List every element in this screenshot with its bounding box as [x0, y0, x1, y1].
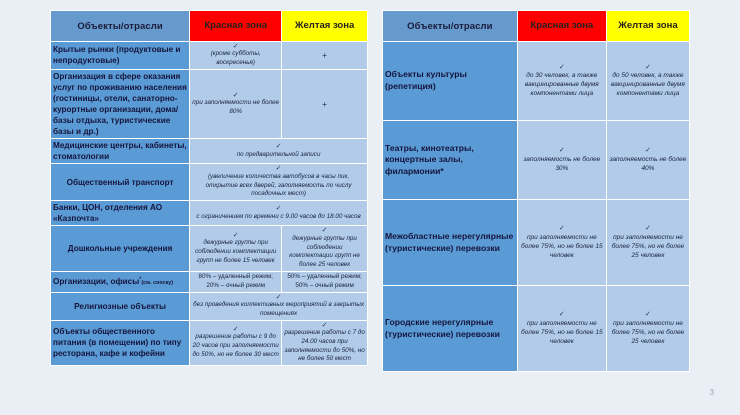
table-row: Банки, ЦОН, отделения АО «Казпочта» ✓ с … — [51, 201, 367, 225]
cell-text: до 30 человек, а также вакцинированные д… — [520, 71, 604, 98]
left-zone-table-wrapper: Объекты/отрасли Красная зона Желтая зона… — [50, 10, 368, 366]
row-label: Организация в сфере оказания услуг по пр… — [51, 70, 189, 138]
table-row: Религиозные объекты ✓ без проведения кол… — [51, 293, 367, 320]
right-zone-table: Объекты/отрасли Красная зона Желтая зона… — [382, 10, 690, 372]
cell-merged: ✓ (увеличение количества автобусов в час… — [190, 164, 367, 200]
check-icon: ✓ — [520, 147, 604, 154]
table-row: Межобластные нерегулярные (туристические… — [383, 200, 689, 285]
check-icon: ✓ — [192, 294, 365, 301]
table-row: Объекты общественного питания (в помещен… — [51, 321, 367, 366]
row-label-note: (см. сноску) — [141, 280, 173, 286]
cell-text: при заполняемости не более 75%, но не бо… — [609, 233, 687, 260]
plus-icon: + — [284, 50, 365, 61]
header-yellow-zone-left: Желтая зона — [282, 11, 367, 41]
header-yellow-zone-right: Желтая зона — [607, 11, 689, 41]
cell-text: 50% – удаленный режим; 50% – очный режим — [284, 273, 365, 291]
row-label: Крытые рынки (продуктовые и непродуктовы… — [51, 42, 189, 69]
cell-text: заполняемость не более 40% — [609, 155, 687, 173]
plus-icon: + — [284, 99, 365, 110]
table-row: Театры, кинотеатры, концертные залы, фил… — [383, 121, 689, 199]
cell-text: до 50 человек, а также вакцинированные д… — [609, 71, 687, 98]
cell-red: ✓ при заполняемости не более 75%, но не … — [518, 200, 606, 285]
cell-merged: ✓ без проведения коллективных мероприяти… — [190, 293, 367, 320]
cell-yellow: ✓ при заполняемости не более 75%, но не … — [607, 200, 689, 285]
cell-text: разрешение работы с 7 до 24.00 часов при… — [284, 329, 365, 364]
header-red-zone-right: Красная зона — [518, 11, 606, 41]
table-row: Общественный транспорт ✓ (увеличение кол… — [51, 164, 367, 200]
cell-text: заполняемость не более 30% — [520, 155, 604, 173]
check-icon: ✓ — [609, 225, 687, 232]
check-icon: ✓ — [284, 322, 365, 329]
cell-text: разрешение работы с 9 до 20 часов при за… — [192, 333, 279, 359]
row-label: Объекты культуры (репетиция) — [383, 42, 517, 120]
cell-text: дежурные группы при соблюдении комплекта… — [284, 235, 365, 270]
slide-canvas: Объекты/отрасли Красная зона Желтая зона… — [0, 0, 740, 415]
cell-yellow: ✓ при заполняемости не более 75%, но не … — [607, 286, 689, 371]
cell-yellow: ✓ до 50 человек, а также вакцинированные… — [607, 42, 689, 120]
cell-yellow: ✓ заполняемость не более 40% — [607, 121, 689, 199]
check-icon: ✓ — [192, 165, 365, 172]
row-label: Медицинские центры, кабинеты, стоматолог… — [51, 139, 189, 163]
check-icon: ✓ — [609, 311, 687, 318]
row-label: Объекты общественного питания (в помещен… — [51, 321, 189, 366]
check-icon: ✓ — [192, 143, 365, 150]
cell-red: ✓ дежурные группы при соблюдении комплек… — [190, 226, 281, 271]
cell-red: 80% – удаленный режим; 20% – очный режим — [190, 272, 281, 292]
cell-text: (кроме субботы, воскресенья) — [192, 50, 279, 68]
right-zone-table-wrapper: Объекты/отрасли Красная зона Желтая зона… — [382, 10, 690, 372]
cell-red: ✓ при заполняемости не более 75%, но не … — [518, 286, 606, 371]
row-label: Дошкольные учреждения — [51, 226, 189, 271]
header-red-zone-left: Красная зона — [190, 11, 281, 41]
row-label: Театры, кинотеатры, концертные залы, фил… — [383, 121, 517, 199]
table-header-row: Объекты/отрасли Красная зона Желтая зона — [383, 11, 689, 41]
check-icon: ✓ — [192, 205, 365, 212]
table-row: Крытые рынки (продуктовые и непродуктовы… — [51, 42, 367, 69]
check-icon: ✓ — [520, 64, 604, 71]
row-label: Общественный транспорт — [51, 164, 189, 200]
page-number: 3 — [710, 388, 714, 397]
cell-text: без проведения коллективных мероприятий … — [192, 301, 365, 319]
row-label: Организации, офисы*(см. сноску) — [51, 272, 189, 292]
check-icon: ✓ — [284, 227, 365, 234]
row-label: Банки, ЦОН, отделения АО «Казпочта» — [51, 201, 189, 225]
check-icon: ✓ — [520, 311, 604, 318]
row-label: Межобластные нерегулярные (туристические… — [383, 200, 517, 285]
cell-yellow: + — [282, 70, 367, 138]
check-icon: ✓ — [192, 92, 279, 99]
cell-red: ✓ заполняемость не более 30% — [518, 121, 606, 199]
header-objects-right: Объекты/отрасли — [383, 11, 517, 41]
cell-text: при заполняемости не более 80% — [192, 99, 279, 117]
left-zone-table: Объекты/отрасли Красная зона Желтая зона… — [50, 10, 368, 366]
table-row: Дошкольные учреждения ✓ дежурные группы … — [51, 226, 367, 271]
table-row: Объекты культуры (репетиция) ✓ до 30 чел… — [383, 42, 689, 120]
cell-yellow: 50% – удаленный режим; 50% – очный режим — [282, 272, 367, 292]
table-row: Городские нерегулярные (туристические) п… — [383, 286, 689, 371]
cell-red: ✓ (кроме субботы, воскресенья) — [190, 42, 281, 69]
cell-text: дежурные группы при соблюдении комплекта… — [192, 239, 279, 265]
cell-text: 80% – удаленный режим; 20% – очный режим — [192, 273, 279, 291]
cell-text: (увеличение количества автобусов в часы … — [192, 173, 365, 199]
check-icon: ✓ — [520, 225, 604, 232]
cell-text: при заполняемости не более 75%, но не бо… — [520, 233, 604, 260]
cell-red: ✓ при заполняемости не более 80% — [190, 70, 281, 138]
header-objects-left: Объекты/отрасли — [51, 11, 189, 41]
cell-red: ✓ разрешение работы с 9 до 20 часов при … — [190, 321, 281, 366]
cell-merged: ✓ с ограничением по времени с 9.00 часов… — [190, 201, 367, 225]
row-label: Религиозные объекты — [51, 293, 189, 320]
cell-text: при заполняемости не более 75%, но не бо… — [609, 319, 687, 346]
table-header-row: Объекты/отрасли Красная зона Желтая зона — [51, 11, 367, 41]
cell-yellow: ✓ дежурные группы при соблюдении комплек… — [282, 226, 367, 271]
cell-red: ✓ до 30 человек, а также вакцинированные… — [518, 42, 606, 120]
cell-text: при заполняемости не более 75%, но не бо… — [520, 319, 604, 346]
table-row: Медицинские центры, кабинеты, стоматолог… — [51, 139, 367, 163]
row-label-text: Организации, офисы — [53, 277, 139, 286]
cell-text: по предварительной записи — [192, 151, 365, 160]
row-label: Городские нерегулярные (туристические) п… — [383, 286, 517, 371]
cell-yellow: + — [282, 42, 367, 69]
table-row: Организация в сфере оказания услуг по пр… — [51, 70, 367, 138]
table-row: Организации, офисы*(см. сноску) 80% – уд… — [51, 272, 367, 292]
check-icon: ✓ — [609, 64, 687, 71]
cell-text: с ограничением по времени с 9.00 часов д… — [192, 213, 365, 222]
cell-merged: ✓ по предварительной записи — [190, 139, 367, 163]
cell-yellow: ✓ разрешение работы с 7 до 24.00 часов п… — [282, 321, 367, 366]
check-icon: ✓ — [609, 147, 687, 154]
